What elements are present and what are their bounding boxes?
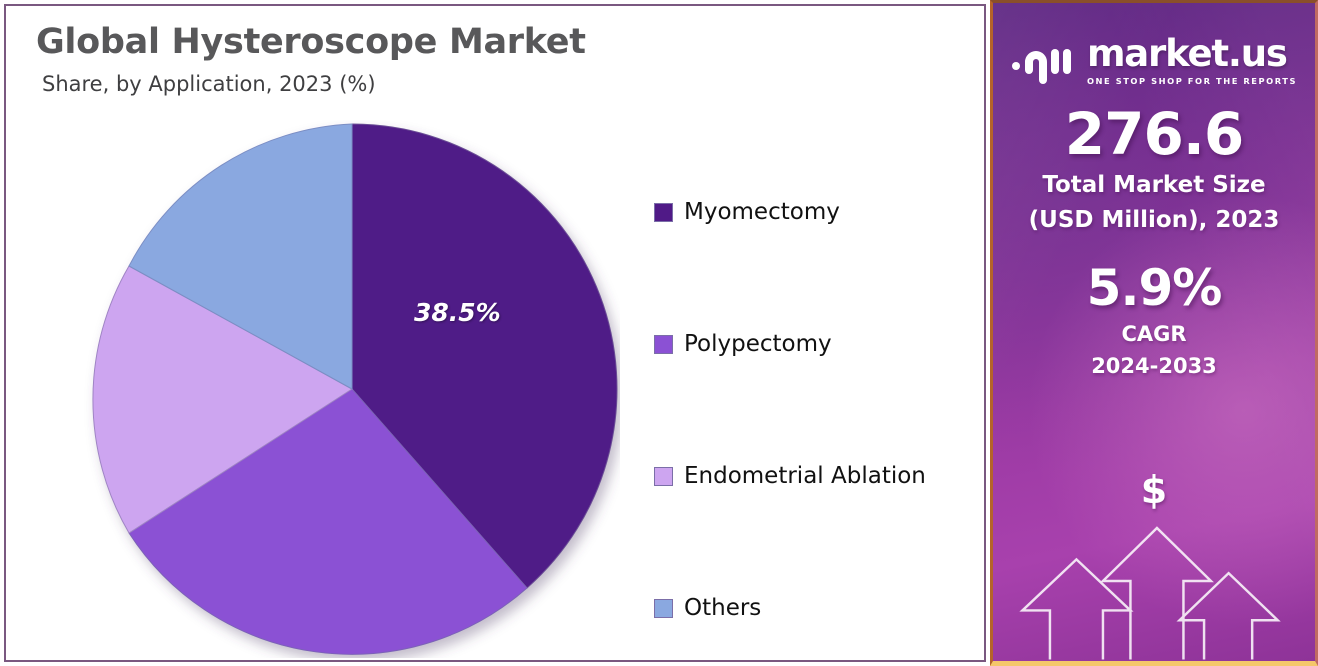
stat-cagr-caption-line2: 2024-2033 (993, 353, 1315, 379)
legend-label: Myomectomy (684, 199, 840, 225)
growth-arrow-icon (1180, 573, 1278, 659)
legend-swatch-icon (654, 599, 673, 618)
market-us-logo-icon (1011, 37, 1077, 85)
brand-logo-text: market.us ONE STOP SHOP FOR THE REPORTS (1087, 35, 1297, 86)
legend-swatch-icon (654, 335, 673, 354)
brand-tagline: ONE STOP SHOP FOR THE REPORTS (1087, 76, 1297, 86)
stat-market-size-caption-line1: Total Market Size (993, 171, 1315, 200)
stat-cagr-caption-line1: CAGR (993, 321, 1315, 347)
page-subtitle: Share, by Application, 2023 (%) (42, 72, 936, 96)
title-block: Global Hysteroscope Market Share, by App… (36, 22, 936, 96)
pie-slice-label-myomectomy: 38.5% (414, 298, 501, 327)
stat-market-size: 276.6 Total Market Size (USD Million), 2… (993, 104, 1315, 234)
growth-arrow-icon (1022, 559, 1130, 659)
infographic-page: Global Hysteroscope Market Share, by App… (0, 0, 1318, 666)
pie-chart-svg (84, 120, 620, 658)
legend-label: Endometrial Ablation (684, 463, 926, 489)
legend-label: Others (684, 595, 761, 621)
legend-swatch-icon (654, 203, 673, 222)
brand-wordmark: market.us (1087, 35, 1287, 72)
growth-arrows-decoration (993, 501, 1315, 661)
brand-stats-panel: market.us ONE STOP SHOP FOR THE REPORTS … (990, 0, 1318, 666)
stat-cagr-value: 5.9% (993, 262, 1315, 315)
stat-market-size-caption-line2: (USD Million), 2023 (993, 206, 1315, 235)
chart-panel: Global Hysteroscope Market Share, by App… (4, 4, 986, 662)
legend-item-others[interactable]: Others (654, 542, 974, 666)
stat-market-size-value: 276.6 (993, 104, 1315, 165)
pie-chart: 38.5% (84, 120, 620, 658)
legend-label: Polypectomy (684, 331, 832, 357)
legend-item-endometrial-ablation[interactable]: Endometrial Ablation (654, 410, 974, 542)
legend-swatch-icon (654, 467, 673, 486)
stat-cagr: 5.9% CAGR 2024-2033 (993, 262, 1315, 379)
legend-item-polypectomy[interactable]: Polypectomy (654, 278, 974, 410)
chart-legend: Myomectomy Polypectomy Endometrial Ablat… (654, 146, 974, 666)
growth-arrow-icon (1103, 528, 1211, 660)
page-title: Global Hysteroscope Market (36, 22, 936, 62)
legend-item-myomectomy[interactable]: Myomectomy (654, 146, 974, 278)
brand-logo[interactable]: market.us ONE STOP SHOP FOR THE REPORTS (993, 35, 1315, 86)
pie-slices (93, 124, 617, 654)
